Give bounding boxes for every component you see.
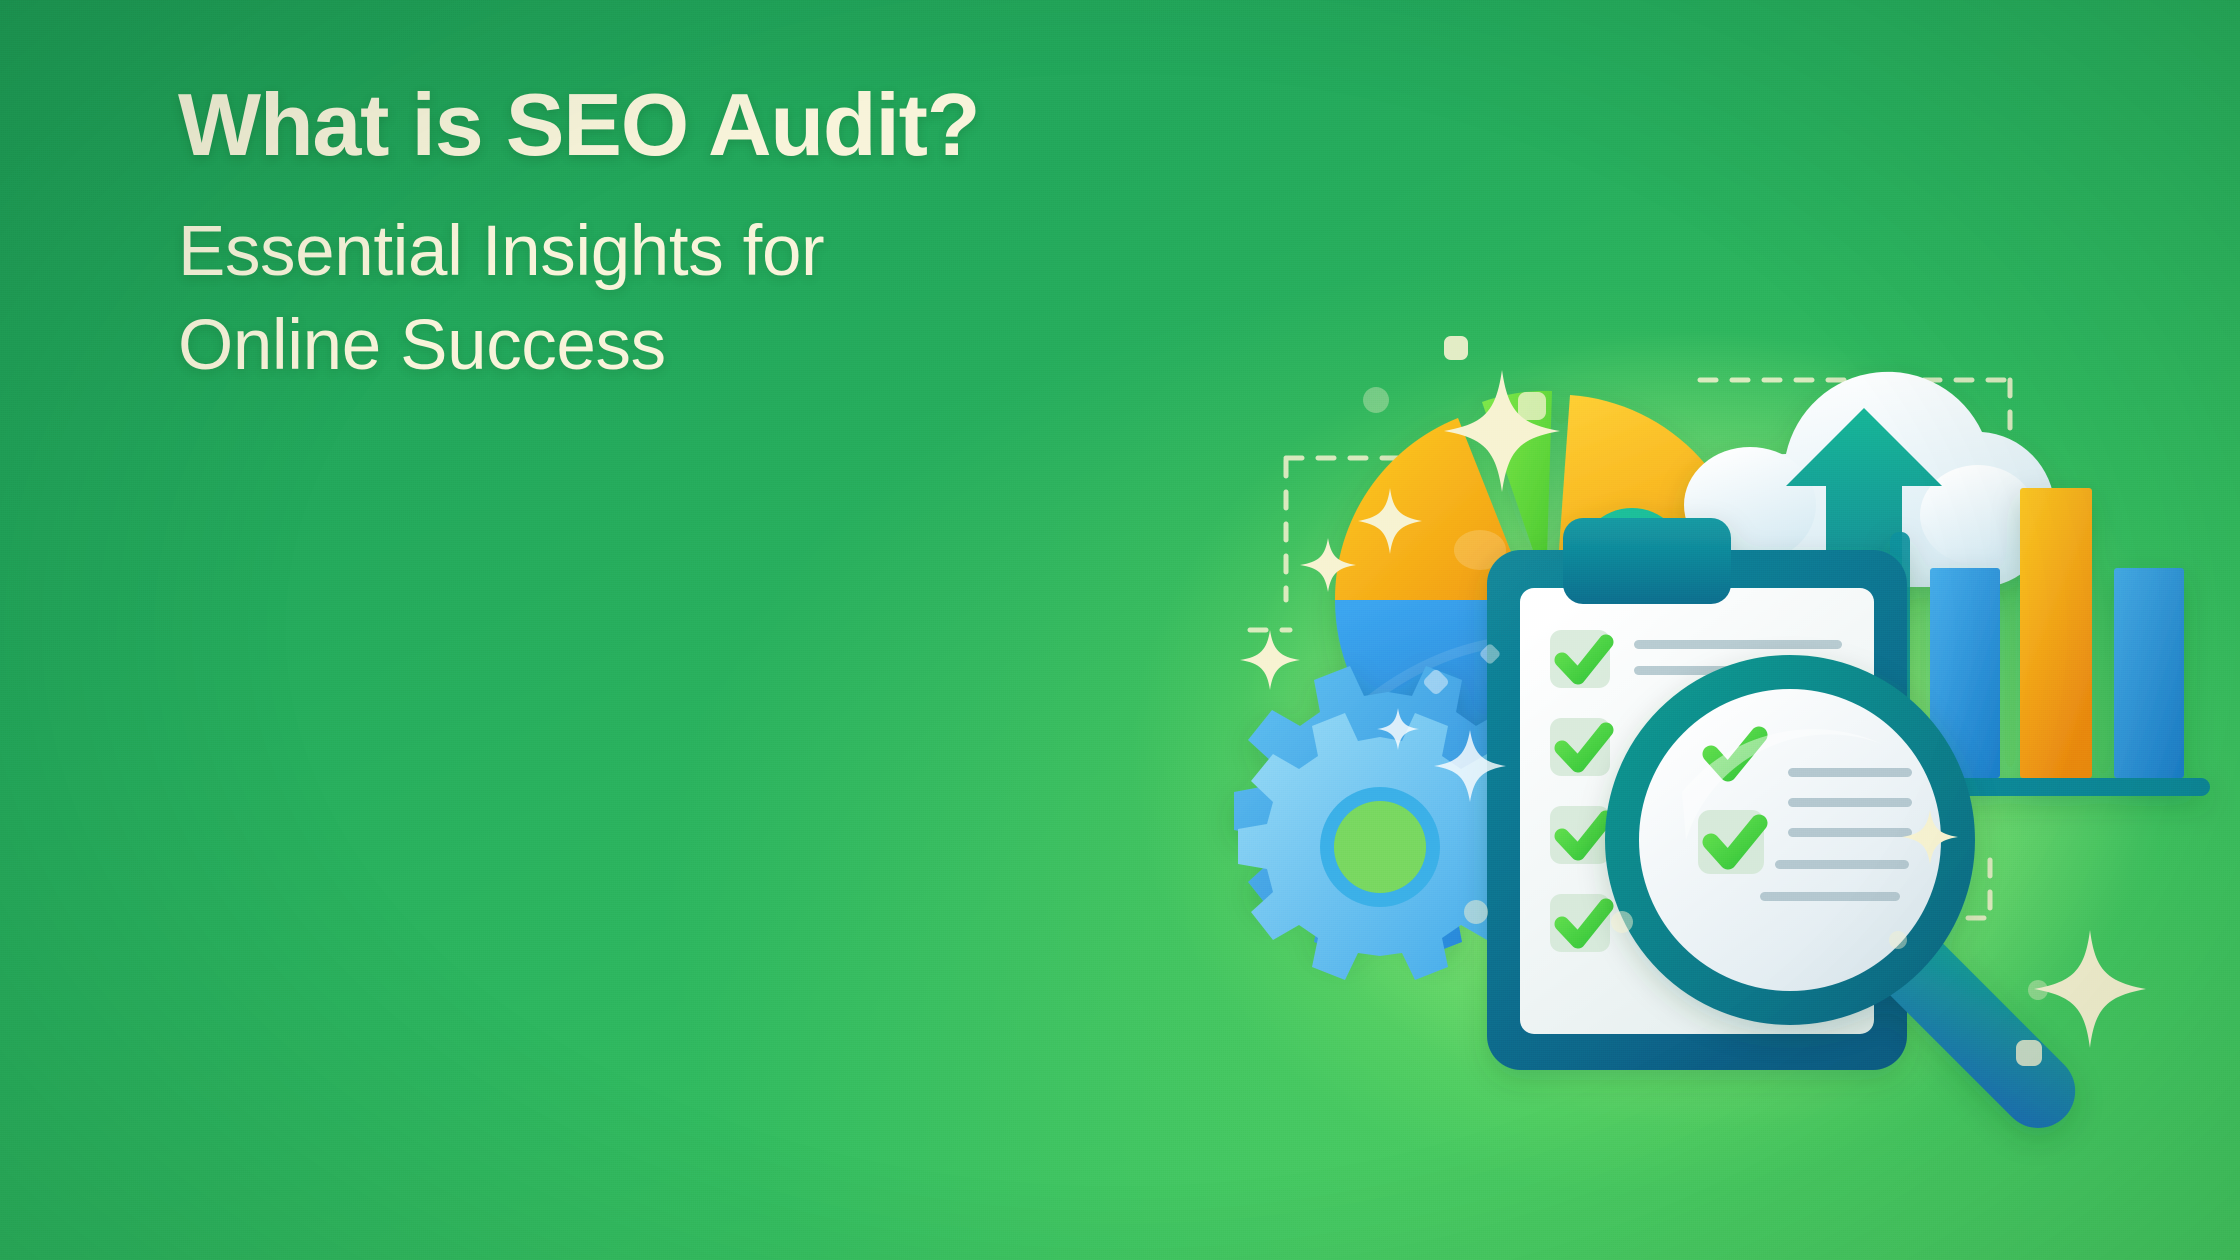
checklist-row <box>1550 894 1610 952</box>
sparkle-square-icon <box>1444 336 1468 360</box>
subtitle-line-2: Online Success <box>178 299 1358 393</box>
bar-2 <box>2020 488 2092 778</box>
seo-audit-illustration <box>1230 300 2240 1180</box>
checklist-row <box>1550 718 1610 776</box>
sparkle-dot-icon <box>2028 980 2048 1000</box>
checklist-row <box>1550 806 1610 864</box>
banner: What is SEO Audit? Essential Insights fo… <box>0 0 2240 1260</box>
text-block: What is SEO Audit? Essential Insights fo… <box>178 78 1358 393</box>
sparkle-square-icon <box>2016 1040 2042 1066</box>
sparkle-dot-icon <box>1363 387 1389 413</box>
sparkle-dot-icon <box>1464 900 1488 924</box>
page-title: What is SEO Audit? <box>178 78 1358 171</box>
clipboard-clip <box>1563 518 1731 604</box>
bar-3 <box>2114 568 2184 778</box>
sparkle-dot-icon <box>1611 911 1633 933</box>
sparkle-dot-icon <box>1889 931 1907 949</box>
sparkle-square-icon <box>1518 392 1546 420</box>
subtitle-line-1: Essential Insights for <box>178 205 1358 299</box>
